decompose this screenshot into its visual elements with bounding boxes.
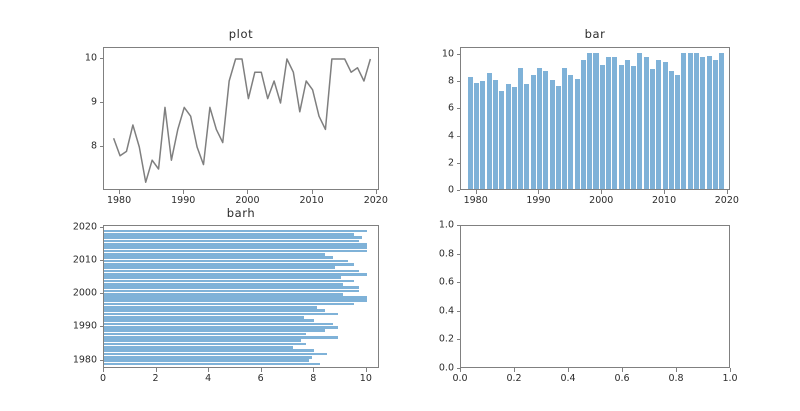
x-tick-mark: [313, 368, 314, 372]
hbar: [104, 333, 306, 336]
bar: [593, 53, 598, 189]
line-plot-area: [104, 48, 378, 189]
y-tick-label: 1.0: [414, 220, 454, 231]
y-tick-label: 6: [414, 103, 454, 114]
hbar: [104, 246, 367, 249]
bar: [474, 83, 479, 189]
bar: [713, 60, 718, 189]
bar: [512, 87, 517, 189]
bar: [656, 60, 661, 189]
x-tick-mark: [247, 190, 248, 194]
y-tick-mark: [457, 311, 461, 312]
bar: [681, 53, 686, 189]
x-tick-mark: [460, 368, 461, 372]
hbar: [104, 319, 314, 322]
x-tick-label: 2: [153, 373, 159, 384]
plot-title-line: plot: [103, 27, 379, 41]
x-tick-mark: [366, 368, 367, 372]
hbar: [104, 336, 338, 339]
hbar: [104, 233, 354, 236]
y-tick-label: 10: [414, 48, 454, 59]
x-tick-label: 0.6: [614, 373, 629, 384]
hbar: [104, 260, 348, 263]
y-tick-label: 0.8: [414, 248, 454, 259]
hbar: [104, 280, 354, 283]
hbar: [104, 316, 304, 319]
y-tick-mark: [457, 54, 461, 55]
x-tick-label: 0.0: [452, 373, 467, 384]
bar: [568, 75, 573, 189]
bar: [700, 57, 705, 189]
x-tick-label: 10: [360, 373, 372, 384]
x-tick-label: 1990: [526, 195, 550, 206]
x-tick-mark: [156, 368, 157, 372]
axes-line-plot: [103, 47, 379, 190]
hbar: [104, 303, 354, 306]
y-tick-mark: [100, 293, 104, 294]
x-tick-label: 0.2: [506, 373, 521, 384]
bar: [694, 53, 699, 189]
bar: [518, 68, 523, 189]
axes-barh-plot: [103, 225, 379, 368]
hbar: [104, 240, 359, 243]
x-tick-label: 2010: [300, 195, 324, 206]
hbar: [104, 353, 327, 356]
hbar: [104, 326, 338, 329]
bar: [537, 68, 542, 189]
x-tick-mark: [727, 190, 728, 194]
x-tick-label: 1.0: [722, 373, 737, 384]
x-tick-label: 2000: [235, 195, 259, 206]
x-tick-mark: [376, 190, 377, 194]
bar: [675, 75, 680, 189]
x-tick-mark: [514, 368, 515, 372]
bar: [663, 62, 668, 189]
hbar: [104, 283, 343, 286]
y-tick-label: 4: [414, 130, 454, 141]
x-tick-label: 1990: [171, 195, 195, 206]
y-tick-label: 2: [414, 157, 454, 168]
bar: [669, 71, 674, 189]
plot-title-barh: barh: [103, 206, 379, 220]
x-tick-mark: [208, 368, 209, 372]
x-tick-label: 8: [310, 373, 316, 384]
y-tick-mark: [100, 227, 104, 228]
bar: [625, 60, 630, 189]
bar: [707, 56, 712, 189]
hbar: [104, 290, 359, 293]
bar: [524, 84, 529, 189]
y-tick-mark: [457, 225, 461, 226]
bar: [719, 53, 724, 189]
bar: [619, 65, 624, 189]
x-tick-label: 4: [205, 373, 211, 384]
plot-title-bar: bar: [460, 27, 730, 41]
hbar: [104, 286, 359, 289]
x-tick-mark: [538, 190, 539, 194]
x-tick-label: 0: [100, 373, 106, 384]
axes-empty-plot: [460, 225, 730, 368]
bar: [612, 57, 617, 189]
y-tick-mark: [100, 102, 104, 103]
y-tick-mark: [100, 58, 104, 59]
hbar: [104, 346, 293, 349]
hbar: [104, 309, 325, 312]
y-tick-label: 2010: [57, 254, 97, 265]
y-tick-mark: [457, 339, 461, 340]
hbar: [104, 276, 341, 279]
bar-plot-area: [461, 48, 729, 189]
y-tick-label: 0.4: [414, 305, 454, 316]
hbar: [104, 329, 325, 332]
hbar: [104, 236, 362, 239]
hbar: [104, 256, 333, 259]
hbar: [104, 250, 367, 253]
bar: [493, 80, 498, 189]
x-tick-label: 0.8: [668, 373, 683, 384]
bar: [550, 80, 555, 189]
x-tick-label: 6: [258, 373, 264, 384]
y-tick-mark: [457, 282, 461, 283]
x-tick-mark: [730, 368, 731, 372]
x-tick-mark: [664, 190, 665, 194]
x-tick-mark: [183, 190, 184, 194]
x-tick-label: 1980: [464, 195, 488, 206]
y-tick-label: 10: [57, 53, 97, 64]
x-tick-mark: [103, 368, 104, 372]
bar: [581, 60, 586, 189]
hbar: [104, 363, 320, 366]
y-tick-mark: [100, 360, 104, 361]
hbar: [104, 306, 317, 309]
y-tick-mark: [457, 190, 461, 191]
axes-bar-plot: [460, 47, 730, 190]
y-tick-label: 0.2: [414, 334, 454, 345]
y-tick-mark: [457, 136, 461, 137]
hbar: [104, 293, 343, 296]
hbar: [104, 339, 301, 342]
bar: [644, 57, 649, 189]
x-tick-label: 2020: [715, 195, 739, 206]
x-tick-label: 2020: [364, 195, 388, 206]
bar: [600, 65, 605, 189]
x-tick-mark: [476, 190, 477, 194]
y-tick-label: 0: [414, 185, 454, 196]
x-tick-mark: [622, 368, 623, 372]
x-tick-mark: [312, 190, 313, 194]
bar: [562, 68, 567, 189]
y-tick-label: 8: [57, 141, 97, 152]
bar: [499, 91, 504, 189]
bar: [606, 57, 611, 189]
bar: [480, 81, 485, 189]
hbar: [104, 349, 314, 352]
hbar: [104, 230, 367, 233]
bar: [631, 66, 636, 189]
y-tick-label: 8: [414, 76, 454, 87]
bar: [575, 79, 580, 189]
y-tick-label: 9: [57, 97, 97, 108]
hbar: [104, 313, 338, 316]
bar: [637, 53, 642, 189]
bar: [543, 71, 548, 189]
y-tick-mark: [457, 368, 461, 369]
x-tick-mark: [676, 368, 677, 372]
hbar: [104, 263, 354, 266]
hbar: [104, 270, 359, 273]
hbar: [104, 266, 335, 269]
y-tick-mark: [457, 81, 461, 82]
x-tick-mark: [568, 368, 569, 372]
x-tick-mark: [261, 368, 262, 372]
bar: [556, 86, 561, 190]
y-tick-mark: [100, 260, 104, 261]
line-path: [114, 59, 371, 182]
bar: [506, 84, 511, 189]
y-tick-label: 1990: [57, 321, 97, 332]
y-tick-mark: [457, 108, 461, 109]
bar: [468, 77, 473, 189]
matplotlib-figure: plot 198019902000201020208910 bar 198019…: [0, 0, 800, 411]
x-tick-label: 2000: [589, 195, 613, 206]
bar: [531, 75, 536, 189]
line-series: [104, 48, 378, 189]
empty-plot-area: [461, 226, 729, 367]
hbar: [104, 253, 325, 256]
hbar: [104, 356, 312, 359]
hbar: [104, 323, 333, 326]
y-tick-label: 2000: [57, 288, 97, 299]
hbar: [104, 343, 306, 346]
y-tick-label: 0.6: [414, 277, 454, 288]
y-tick-label: 0.0: [414, 363, 454, 374]
bar: [688, 53, 693, 189]
x-tick-label: 2010: [652, 195, 676, 206]
x-tick-mark: [119, 190, 120, 194]
y-tick-mark: [457, 254, 461, 255]
y-tick-label: 2020: [57, 221, 97, 232]
hbar: [104, 299, 367, 302]
x-tick-mark: [601, 190, 602, 194]
hbar: [104, 273, 367, 276]
bar: [650, 69, 655, 189]
hbar: [104, 243, 367, 246]
barh-plot-area: [104, 226, 378, 367]
hbar: [104, 296, 367, 299]
y-tick-label: 1980: [57, 354, 97, 365]
y-tick-mark: [457, 163, 461, 164]
y-tick-mark: [100, 326, 104, 327]
x-tick-label: 0.4: [560, 373, 575, 384]
x-tick-label: 1980: [107, 195, 131, 206]
hbar: [104, 359, 309, 362]
bar: [487, 73, 492, 189]
bar: [587, 53, 592, 189]
y-tick-mark: [100, 146, 104, 147]
